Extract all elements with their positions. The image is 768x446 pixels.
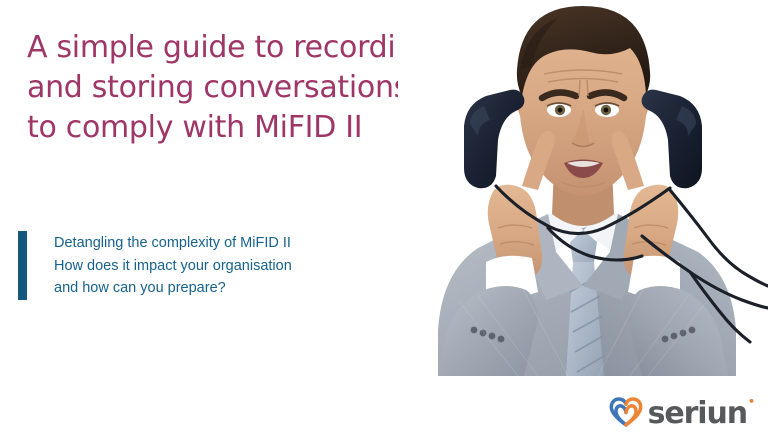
page-title: A simple guide to recording and storing … xyxy=(27,28,417,148)
pupil-left xyxy=(558,108,563,113)
subtitle-lines: Detangling the complexity of MiFID II Ho… xyxy=(54,231,292,300)
title-line-2: and storing conversations xyxy=(27,68,417,108)
seriun-heart-icon xyxy=(609,397,643,428)
subtitle-line-3: and how can you prepare? xyxy=(54,277,292,300)
businessman-illustration xyxy=(398,0,768,376)
title-line-3: to comply with MiFID II xyxy=(27,108,417,148)
pupil-right xyxy=(604,108,609,113)
slide-canvas: A simple guide to recording and storing … xyxy=(0,0,768,446)
hero-photo xyxy=(398,0,768,376)
subtitle-line-1: Detangling the complexity of MiFID II xyxy=(54,232,292,255)
subtitle-line-2: How does it impact your organisation xyxy=(54,255,292,278)
subtitle-block: Detangling the complexity of MiFID II Ho… xyxy=(18,231,292,300)
title-line-1: A simple guide to recording xyxy=(27,28,417,68)
registered-mark: • xyxy=(748,395,755,408)
seriun-wordmark: seriun xyxy=(648,399,747,429)
seriun-logo[interactable]: seriun • xyxy=(609,397,754,428)
accent-bar xyxy=(18,231,27,300)
